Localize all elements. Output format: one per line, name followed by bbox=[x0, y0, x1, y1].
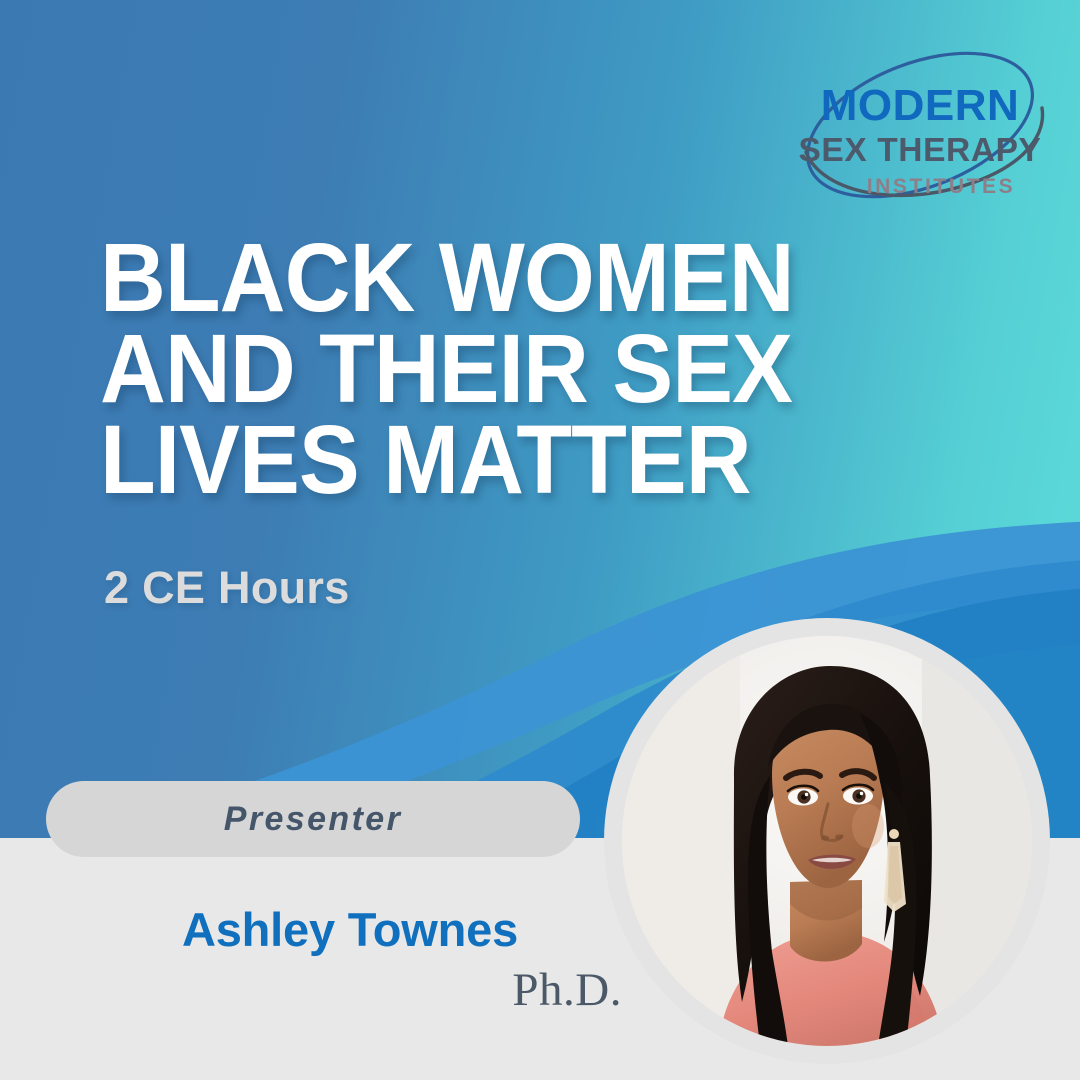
promo-poster: MODERN SEX THERAPY INSTITUTES BLACK WOME… bbox=[0, 0, 1080, 1080]
page-title: BLACK WOMEN AND THEIR SEX LIVES MATTER bbox=[100, 232, 927, 506]
presenter-name: Ashley Townes bbox=[110, 902, 590, 957]
ce-hours-label: 2 CE Hours bbox=[104, 562, 350, 614]
presenter-credential: Ph.D. bbox=[110, 963, 622, 1017]
logo-line-institutes: INSTITUTES bbox=[784, 174, 1056, 199]
presenter-badge-label: Presenter bbox=[224, 800, 402, 839]
headline-line-2: AND THEIR SEX bbox=[100, 323, 927, 414]
presenter-badge: Presenter bbox=[46, 781, 580, 857]
logo-wordmark: MODERN SEX THERAPY INSTITUTES bbox=[784, 84, 1056, 199]
headline-line-3: LIVES MATTER bbox=[100, 414, 927, 505]
logo-line-sex-therapy: SEX THERAPY bbox=[784, 131, 1056, 171]
headline-line-1: BLACK WOMEN bbox=[100, 232, 927, 323]
brand-logo[interactable]: MODERN SEX THERAPY INSTITUTES bbox=[784, 34, 1056, 216]
logo-line-modern: MODERN bbox=[784, 84, 1056, 129]
presenter-portrait bbox=[622, 636, 1032, 1046]
